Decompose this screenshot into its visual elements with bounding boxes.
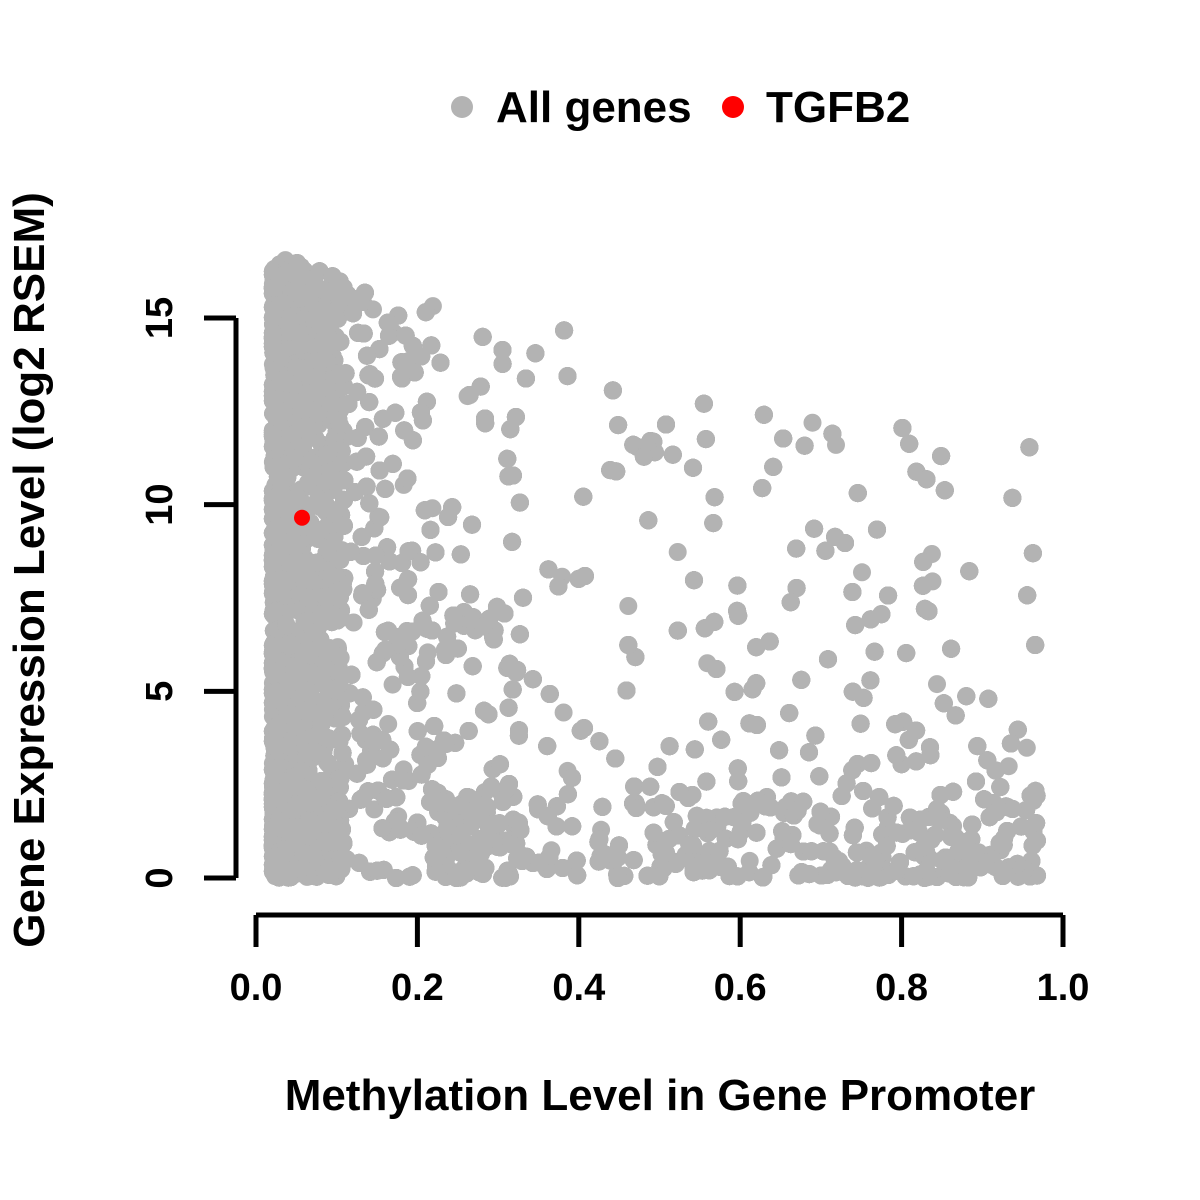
data-point (1018, 739, 1036, 757)
data-point (853, 563, 871, 581)
data-point (669, 543, 687, 561)
plot-canvas: 051015 0.00.20.40.60.81.0 Methylation Le… (0, 0, 1200, 1200)
data-point (619, 597, 637, 615)
scatter-plot-figure: 051015 0.00.20.40.60.81.0 Methylation Le… (0, 0, 1200, 1200)
data-point (555, 704, 573, 722)
data-point (384, 676, 402, 694)
data-point (804, 414, 822, 432)
data-point (928, 675, 946, 693)
data-point (379, 715, 397, 733)
